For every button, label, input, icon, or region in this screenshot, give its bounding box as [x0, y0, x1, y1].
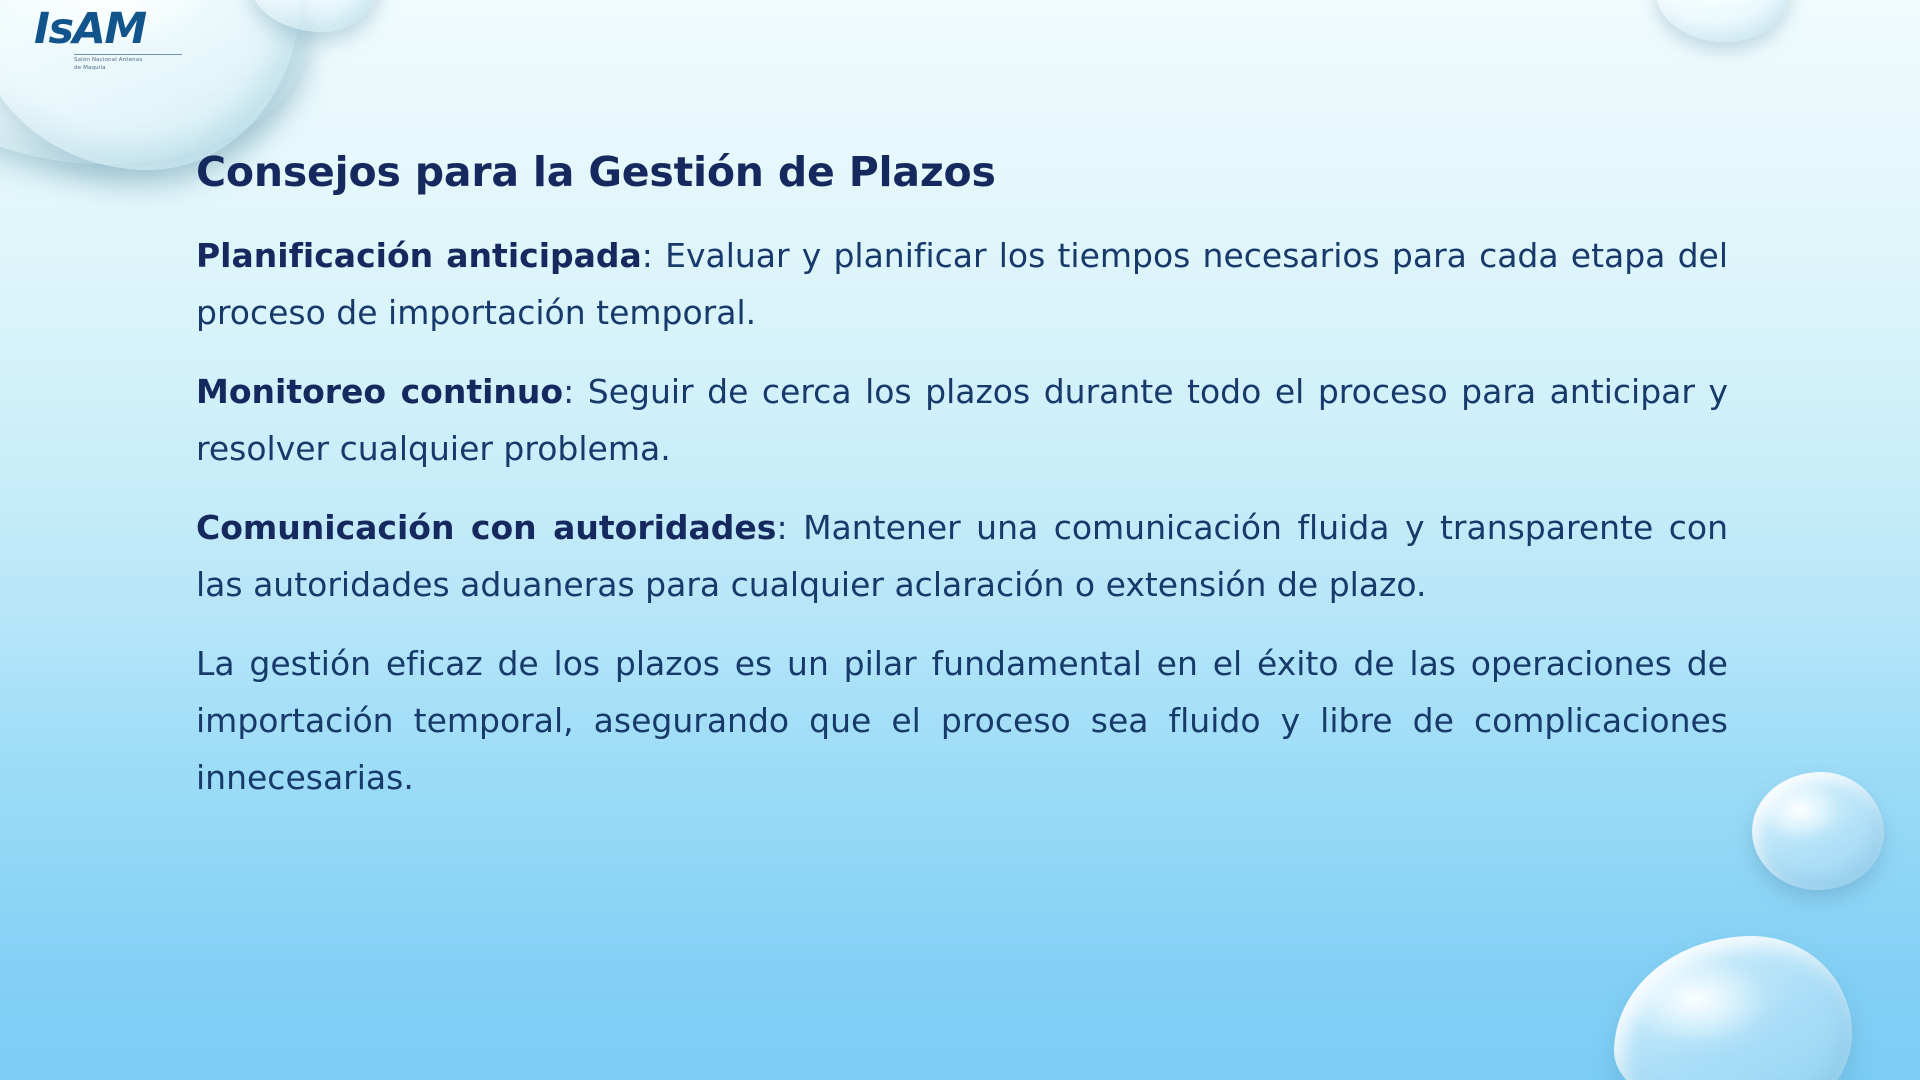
bullet-paragraph-3-lead: Comunicación con autoridades: [196, 508, 776, 547]
water-droplet-icon-top-right: [1656, 0, 1790, 42]
bullet-paragraph-1-separator: :: [642, 236, 665, 275]
logo-divider: [74, 54, 182, 55]
bullet-paragraph-2-separator: :: [563, 372, 588, 411]
presentation-slide: IsAM Salón Nacional Antenas de Maquila C…: [0, 0, 1920, 1080]
bullet-paragraph-2: Monitoreo continuo: Seguir de cerca los …: [196, 363, 1728, 477]
slide-content: Consejos para la Gestión de Plazos Plani…: [196, 150, 1728, 806]
water-droplet-icon-bottom-right-small: [1752, 772, 1884, 890]
isam-logo: IsAM Salón Nacional Antenas de Maquila: [34, 8, 184, 72]
water-droplet-icon-top-left-small: [250, 0, 380, 32]
logo-wordmark: IsAM: [34, 8, 184, 51]
closing-paragraph-body: La gestión eficaz de los plazos es un pi…: [196, 644, 1728, 797]
water-droplet-icon-bottom-right-large: [1614, 936, 1852, 1080]
logo-subtitle-line-2: de Maquila: [74, 65, 184, 73]
bullet-paragraph-3-separator: :: [776, 508, 803, 547]
bullet-paragraph-3: Comunicación con autoridades: Mantener u…: [196, 499, 1728, 613]
bullet-paragraph-2-lead: Monitoreo continuo: [196, 372, 563, 411]
closing-paragraph: La gestión eficaz de los plazos es un pi…: [196, 635, 1728, 806]
slide-title: Consejos para la Gestión de Plazos: [196, 150, 1728, 195]
logo-subtitle-line-1: Salón Nacional Antenas: [74, 57, 184, 65]
bullet-paragraph-1: Planificación anticipada: Evaluar y plan…: [196, 227, 1728, 341]
bullet-paragraph-1-lead: Planificación anticipada: [196, 236, 642, 275]
